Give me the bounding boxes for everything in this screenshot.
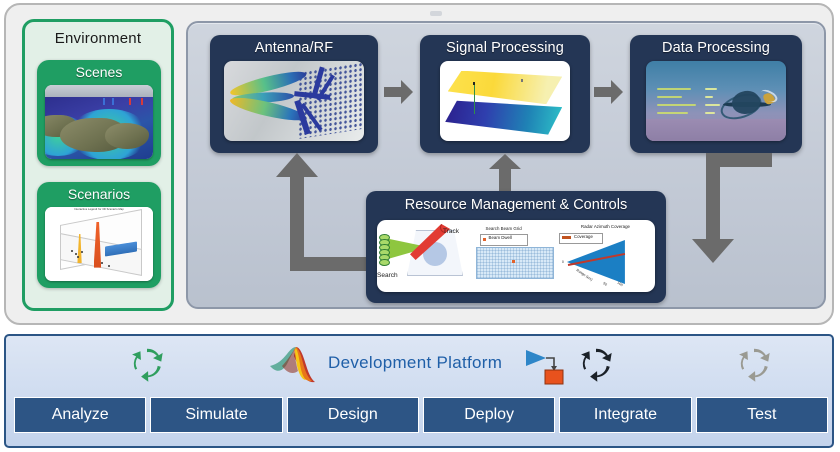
environment-card-scenes-label: Scenes — [37, 64, 161, 80]
environment-panel: Environment Scenes — [22, 19, 174, 311]
tab-design[interactable]: Design — [287, 397, 419, 433]
cycle-icon-dark — [577, 344, 615, 382]
radar-azimuth-coverage-subpanel: Radar Azimuth Coverage Coverage 0 Range … — [555, 220, 655, 292]
arrow-signal-to-data-icon — [594, 79, 624, 105]
workflow-tab-row: Analyze Simulate Design Deploy Integrate… — [14, 397, 828, 433]
tab-integrate[interactable]: Integrate — [559, 397, 691, 433]
environment-panel-title: Environment — [25, 30, 171, 47]
raz-tick-50: 50 — [602, 281, 608, 287]
development-platform-block: Development Platform — [4, 334, 834, 448]
environment-card-scenarios-label: Scenarios — [37, 186, 161, 202]
range-doppler-surface-thumbnail — [440, 61, 570, 141]
tab-analyze[interactable]: Analyze — [14, 397, 146, 433]
3d-scatter-plot-thumbnail: Interactive Legend for 3D Scenario Map — [45, 207, 153, 281]
resource-management-thumbnail: Track Search Search Beam Grid Beam Dwell — [377, 220, 655, 292]
label-track: Track — [443, 228, 459, 235]
raz-tick-0: 0 — [562, 260, 564, 264]
arrow-data-to-rmc-icon — [666, 153, 778, 269]
tab-simulate[interactable]: Simulate — [150, 397, 282, 433]
tab-deploy[interactable]: Deploy — [423, 397, 555, 433]
simulink-logo-icon — [524, 346, 572, 386]
tab-integrate-label: Integrate — [594, 406, 657, 424]
tab-test[interactable]: Test — [696, 397, 828, 433]
tab-analyze-label: Analyze — [52, 406, 109, 424]
tab-test-label: Test — [747, 406, 776, 424]
radar-azimuth-coverage-legend: Coverage — [574, 234, 593, 239]
stage-signal-processing[interactable]: Signal Processing — [420, 35, 590, 153]
cycle-icon-gray — [735, 344, 773, 382]
radar-azimuth-coverage-title: Radar Azimuth Coverage — [581, 224, 630, 229]
resource-management-controls-label: Resource Management & Controls — [366, 197, 666, 213]
search-track-beams-subpanel: Track Search — [377, 220, 472, 292]
system-architecture-frame: Environment Scenes — [4, 3, 834, 325]
search-beam-grid-legend: Beam Dwell — [489, 235, 512, 240]
stage-antenna-rf-label: Antenna/RF — [210, 40, 378, 56]
signal-chain-panel: Antenna/RF — [186, 21, 826, 309]
search-beam-grid-title: Search Beam Grid — [486, 226, 522, 231]
matlab-logo-icon — [268, 344, 316, 384]
arrow-antenna-to-signal-icon — [384, 79, 414, 105]
stage-data-processing-label: Data Processing — [630, 40, 802, 56]
stage-data-processing[interactable]: Data Processing — [630, 35, 802, 153]
resource-management-controls-box[interactable]: Resource Management & Controls — [366, 191, 666, 303]
tab-simulate-label: Simulate — [185, 406, 247, 424]
environment-card-scenarios[interactable]: Scenarios Interactive Legend for 3D Scen… — [37, 182, 161, 288]
stage-antenna-rf[interactable]: Antenna/RF — [210, 35, 378, 153]
stage-signal-processing-label: Signal Processing — [420, 40, 590, 56]
tab-design-label: Design — [328, 406, 378, 424]
terrain-map-thumbnail — [45, 85, 153, 159]
frame-top-nub — [430, 11, 442, 16]
development-platform-title: Development Platform — [328, 353, 502, 373]
tab-deploy-label: Deploy — [464, 406, 514, 424]
diagram-root: Environment Scenes — [0, 0, 840, 452]
arrow-rmc-to-antenna-icon — [266, 151, 376, 271]
label-search: Search — [377, 272, 398, 279]
environment-card-scenes[interactable]: Scenes — [37, 60, 161, 166]
cycle-icon-green — [128, 344, 166, 382]
search-beam-grid-subpanel: Search Beam Grid Beam Dwell — [472, 220, 555, 292]
aircraft-tracking-thumbnail — [646, 61, 786, 141]
antenna-radiation-pattern-thumbnail — [224, 61, 364, 141]
